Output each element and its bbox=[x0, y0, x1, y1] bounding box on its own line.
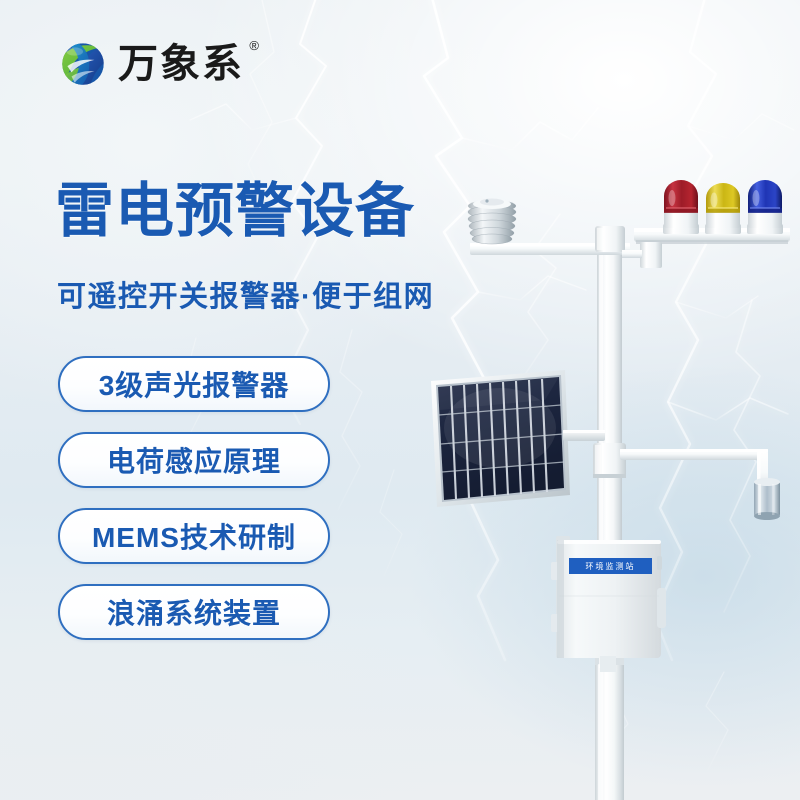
globe-swirl-logo bbox=[57, 38, 109, 90]
yellow-alarm-beacon bbox=[705, 183, 741, 234]
solar-panel bbox=[431, 370, 605, 507]
brand-logo: 万象系 ® bbox=[57, 38, 244, 90]
control-box bbox=[551, 536, 666, 672]
mounting-pole bbox=[595, 243, 624, 800]
brand-name-text: 万象系 bbox=[118, 42, 244, 86]
registered-mark: ® bbox=[249, 39, 261, 52]
poster-canvas: 环境监测站 bbox=[0, 0, 800, 800]
control-box-label: 环境监测站 bbox=[569, 558, 652, 574]
feature-pill-1[interactable]: 3级声光报警器 bbox=[58, 356, 330, 412]
brand-wordmark: 万象系 ® bbox=[118, 44, 244, 84]
red-alarm-beacon bbox=[663, 180, 699, 234]
blue-alarm-beacon bbox=[747, 180, 783, 234]
radiation-shield-sensor bbox=[468, 199, 516, 245]
pole-clamp-junction bbox=[593, 443, 626, 478]
upper-cross-arm bbox=[470, 226, 630, 255]
page-title: 雷电预警设备 bbox=[55, 180, 415, 244]
cylinder-sensor bbox=[754, 478, 780, 520]
page-subtitle: 可遥控开关报警器·便于组网 bbox=[57, 282, 434, 314]
side-sensor-arm bbox=[620, 449, 768, 497]
feature-pill-3[interactable]: MEMS技术研制 bbox=[58, 508, 330, 564]
feature-list: 3级声光报警器 电荷感应原理 MEMS技术研制 浪涌系统装置 bbox=[58, 356, 330, 640]
feature-pill-4[interactable]: 浪涌系统装置 bbox=[58, 584, 330, 640]
beacon-platform bbox=[622, 228, 790, 268]
feature-pill-2[interactable]: 电荷感应原理 bbox=[58, 432, 330, 488]
